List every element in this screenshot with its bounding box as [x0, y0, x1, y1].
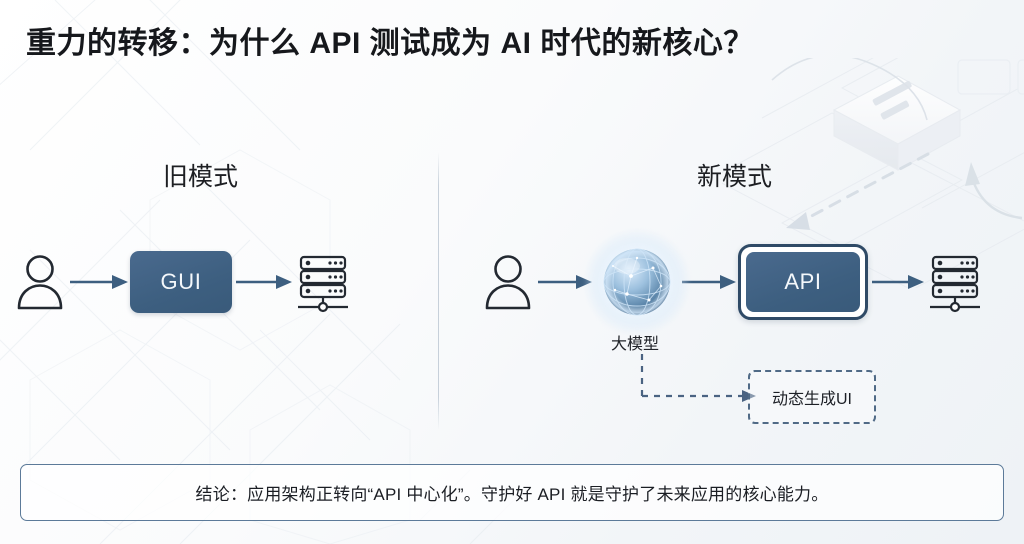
user-icon	[480, 251, 536, 313]
node-server-new	[926, 251, 984, 313]
api-label: API	[784, 269, 821, 295]
arrow-right-icon	[868, 272, 926, 292]
panel-heading-old: 旧模式	[163, 157, 238, 193]
dynamic-ui-box: 动态生成UI	[748, 370, 876, 424]
node-llm-sphere	[594, 239, 680, 325]
slide-canvas: 重力的转移：为什么 API 测试成为 AI 时代的新核心？ 旧模式 新模式 GU…	[0, 0, 1024, 544]
panel-divider	[438, 152, 439, 430]
slide-title: 重力的转移：为什么 API 测试成为 AI 时代的新核心？	[26, 18, 754, 62]
ai-sphere-icon	[601, 246, 673, 318]
server-stack-icon	[294, 251, 352, 313]
dynamic-ui-label: 动态生成UI	[772, 385, 852, 409]
arrow-right-icon	[232, 272, 294, 292]
gui-label: GUI	[161, 269, 202, 295]
node-user-old	[12, 251, 68, 313]
conclusion-text: 结论：应用架构正转向“API 中心化”。守护好 API 就是守护了未来应用的核心…	[196, 480, 829, 505]
flow-new-mode: API	[480, 242, 984, 322]
api-box: API	[738, 244, 868, 320]
node-user-new	[480, 251, 536, 313]
arrow-right-icon	[68, 272, 130, 292]
llm-caption: 大模型	[611, 330, 659, 354]
gui-box: GUI	[130, 251, 232, 313]
user-icon	[12, 251, 68, 313]
conclusion-bar: 结论：应用架构正转向“API 中心化”。守护好 API 就是守护了未来应用的核心…	[20, 464, 1004, 521]
panel-heading-new: 新模式	[697, 157, 772, 193]
api-box-inner: API	[746, 252, 860, 312]
server-stack-icon	[926, 251, 984, 313]
node-server-old	[294, 251, 352, 313]
flow-old-mode: GUI	[12, 242, 352, 322]
dashed-arrow-right-icon	[636, 352, 766, 408]
